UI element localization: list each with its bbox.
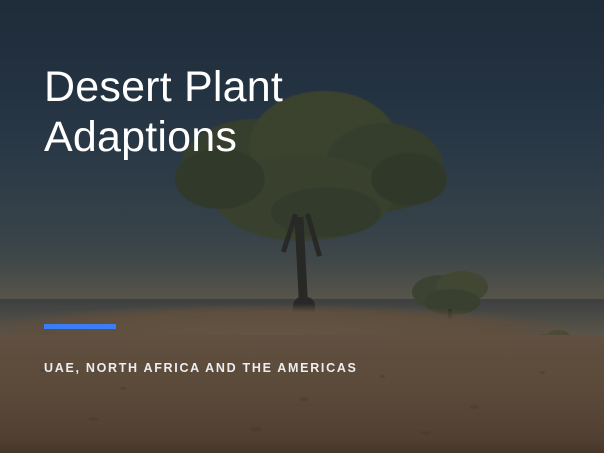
slide-title-line-2: Adaptions (44, 113, 237, 161)
slide-title: Desert Plant Adaptions (44, 62, 464, 162)
slide-subtitle: UAE, NORTH AFRICA AND THE AMERICAS (44, 358, 484, 379)
title-slide: Desert Plant Adaptions UAE, NORTH AFRICA… (0, 0, 604, 453)
slide-title-line-1: Desert Plant (44, 63, 283, 111)
accent-rule (44, 324, 116, 329)
slide-content: Desert Plant Adaptions UAE, NORTH AFRICA… (0, 0, 604, 453)
